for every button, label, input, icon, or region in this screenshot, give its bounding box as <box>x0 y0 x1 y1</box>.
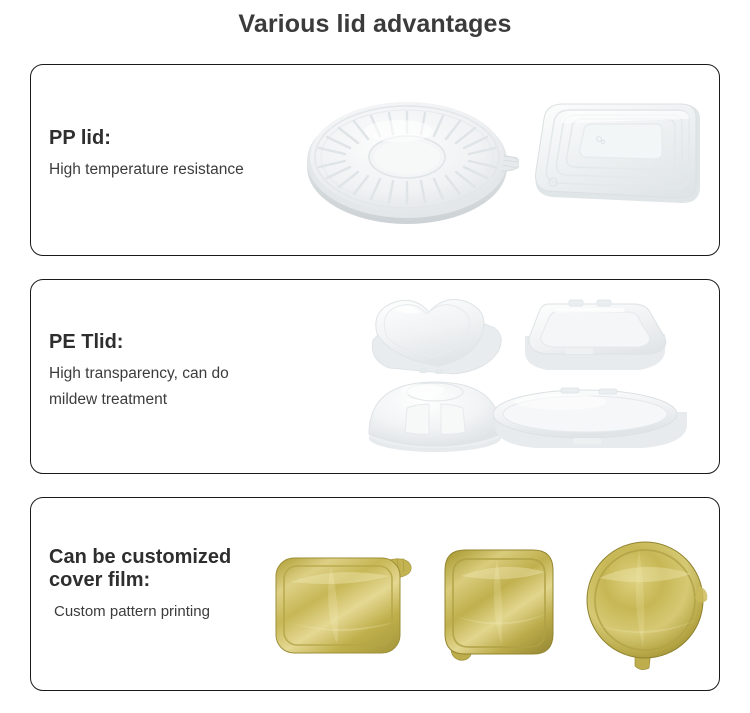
card-pe-lid-heading: PE Tlid: <box>49 331 229 354</box>
card-pe-lid: PE Tlid: High transparency, can do milde… <box>30 279 720 474</box>
lid-advantages-infographic: Various lid advantages PP lid: High temp… <box>0 0 750 713</box>
card-cover-film-heading: Can be customized cover film: <box>49 546 231 593</box>
oval-pe-lid-image <box>483 384 689 456</box>
round-ribbed-pp-lid-image <box>299 85 519 235</box>
card-pe-lid-text: PE Tlid: High transparency, can do milde… <box>49 331 229 412</box>
card-cover-film-subtitle: Custom pattern printing <box>49 600 231 624</box>
square-pe-lid-image <box>509 292 679 380</box>
gold-round-foil-lid-image <box>579 538 715 670</box>
rectangular-pp-lid-image <box>509 85 720 235</box>
gold-rectangular-foil-lid-image <box>271 546 421 662</box>
card-pp-lid: PP lid: High temperature resistance <box>30 64 720 256</box>
card-pp-lid-text: PP lid: High temperature resistance <box>49 127 244 183</box>
card-pp-lid-subtitle: High temperature resistance <box>49 157 244 182</box>
page-title: Various lid advantages <box>0 10 750 39</box>
card-cover-film: Can be customized cover film: Custom pat… <box>30 497 720 691</box>
card-pe-lid-subtitle: High transparency, can do mildew treatme… <box>49 361 229 411</box>
gold-square-foil-lid-image <box>435 542 563 666</box>
card-cover-film-text: Can be customized cover film: Custom pat… <box>49 546 231 624</box>
heart-shaped-pe-lid-image <box>347 288 527 383</box>
card-pp-lid-heading: PP lid: <box>49 127 244 150</box>
